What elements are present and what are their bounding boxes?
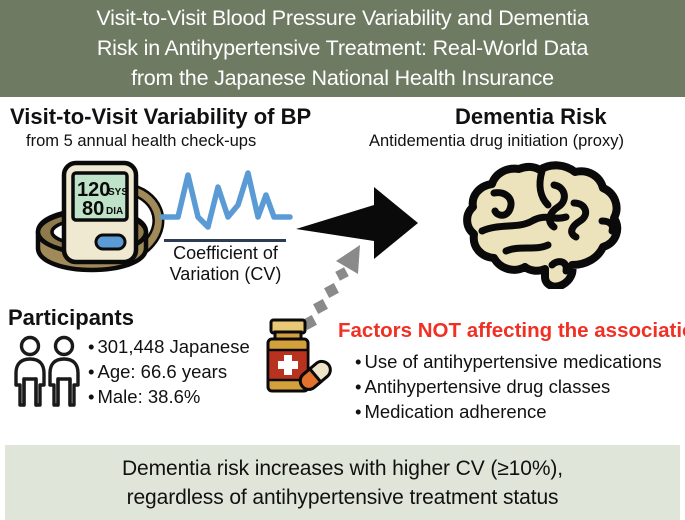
factors-title: Factors NOT affecting the association — [338, 319, 685, 343]
list-item: •Antihypertensive drug classes — [355, 374, 662, 399]
participants-item-0: 301,448 Japanese — [97, 336, 249, 357]
factors-item-1: Antihypertensive drug classes — [364, 376, 610, 397]
bullet-glyph: • — [355, 401, 361, 422]
exposure-subtitle: from 5 annual health check-ups — [26, 131, 256, 151]
factors-item-0: Use of antihypertensive medications — [364, 351, 661, 372]
participants-list: •301,448 Japanese •Age: 66.6 years •Male… — [88, 334, 250, 409]
list-item: •301,448 Japanese — [88, 334, 250, 359]
variability-waveform-icon — [158, 165, 293, 237]
cv-label-line-1: Coefficient of — [158, 243, 293, 264]
bullet-glyph: • — [88, 336, 94, 357]
participants-item-2: Male: 38.6% — [97, 386, 200, 407]
systolic-label: SYS — [108, 187, 128, 198]
exposure-title: Visit-to-Visit Variability of BP — [10, 104, 311, 130]
bullet-glyph: • — [355, 376, 361, 397]
list-item: •Age: 66.6 years — [88, 359, 250, 384]
bullet-glyph: • — [88, 386, 94, 407]
blood-pressure-monitor-icon: 120 SYS 80 DIA — [30, 160, 175, 275]
main-figure-area: Visit-to-Visit Variability of BP from 5 … — [0, 97, 685, 445]
title-line-1: Visit-to-Visit Blood Pressure Variabilit… — [96, 3, 588, 33]
title-line-2: Risk in Antihypertensive Treatment: Real… — [97, 33, 588, 63]
list-item: •Medication adherence — [355, 399, 662, 424]
outcome-title: Dementia Risk — [455, 104, 607, 130]
factors-list: •Use of antihypertensive medications •An… — [355, 349, 662, 424]
brain-icon — [462, 159, 625, 289]
participants-title: Participants — [8, 305, 134, 331]
title-line-3: from the Japanese National Health Insura… — [131, 63, 554, 93]
diastolic-label: DIA — [106, 206, 123, 217]
cv-divider-rule — [164, 239, 286, 242]
list-item: •Male: 38.6% — [88, 384, 250, 409]
bullet-glyph: • — [88, 361, 94, 382]
two-people-icon — [12, 335, 90, 407]
participants-item-1: Age: 66.6 years — [97, 361, 227, 382]
cv-label-line-2: Variation (CV) — [158, 264, 293, 285]
conclusion-line-2: regardless of antihypertensive treatment… — [127, 483, 559, 512]
cross-icon-horizontal — [278, 361, 298, 369]
conclusion-banner: Dementia risk increases with higher CV (… — [5, 445, 680, 520]
list-item: •Use of antihypertensive medications — [355, 349, 662, 374]
factors-item-2: Medication adherence — [364, 401, 546, 422]
bullet-glyph: • — [355, 351, 361, 372]
conclusion-line-1: Dementia risk increases with higher CV (… — [122, 454, 563, 483]
pill-bottle-icon — [263, 317, 333, 395]
outcome-subtitle: Antidementia drug initiation (proxy) — [369, 131, 624, 151]
header-banner: Visit-to-Visit Blood Pressure Variabilit… — [0, 0, 685, 97]
coefficient-of-variation-group: Coefficient of Variation (CV) — [158, 165, 293, 277]
diastolic-value: 80 — [82, 198, 104, 220]
